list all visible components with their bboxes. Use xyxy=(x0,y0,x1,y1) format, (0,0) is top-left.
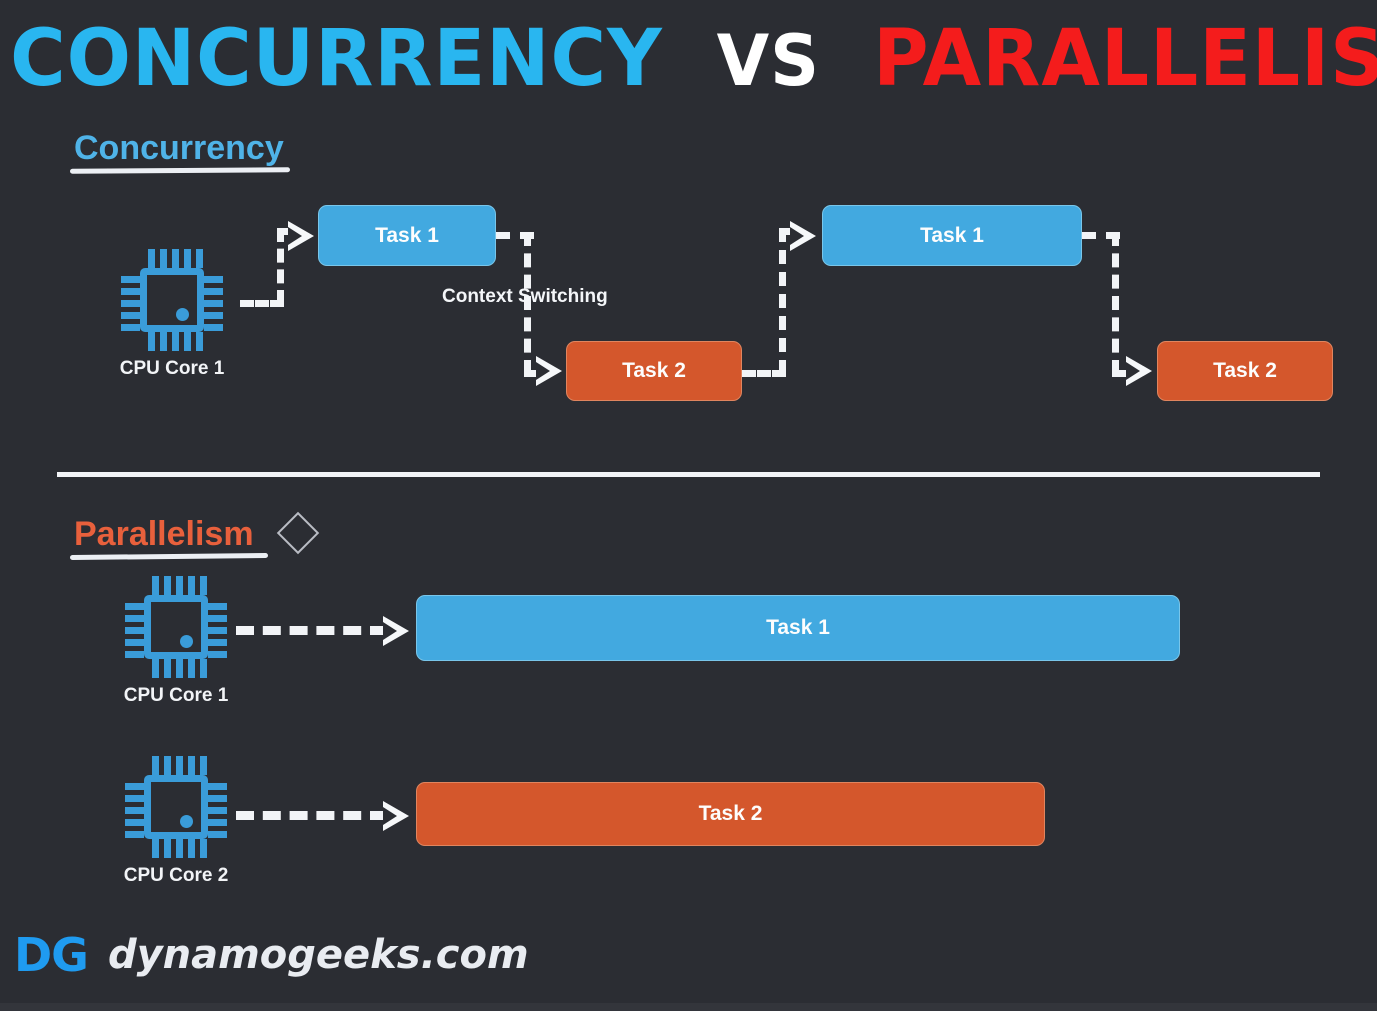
section-heading-parallelism: Parallelism xyxy=(74,514,254,554)
heading-underline-parallelism xyxy=(70,553,268,560)
arrow-right-icon xyxy=(288,221,314,251)
arrow-right-icon xyxy=(790,221,816,251)
cpu-chip-icon: CPU Core 1 xyxy=(118,246,226,354)
dash-segment xyxy=(236,811,388,820)
infographic-canvas: CONCURRENCY VS PARALLELISM Concurrency xyxy=(0,0,1377,1011)
dash-segment xyxy=(779,228,786,374)
arrow-right-icon xyxy=(383,801,409,831)
diamond-cursor-icon xyxy=(277,512,319,554)
cpu-dot xyxy=(176,308,189,321)
title-part-concurrency: CONCURRENCY xyxy=(10,14,663,104)
task-bar: Task 2 xyxy=(416,782,1045,846)
task-block: Task 2 xyxy=(1157,341,1333,401)
page-title: CONCURRENCY VS PARALLELISM xyxy=(0,14,1377,106)
context-switching-label: Context Switching xyxy=(442,286,608,308)
cpu-dot xyxy=(180,635,193,648)
title-part-vs: VS xyxy=(717,16,820,106)
cpu-body xyxy=(140,268,204,332)
cpu-core-label: CPU Core 2 xyxy=(100,865,252,887)
section-heading-concurrency: Concurrency xyxy=(74,128,284,168)
cpu-body xyxy=(144,775,208,839)
task-block: Task 1 xyxy=(822,205,1082,266)
arrow-right-icon xyxy=(1126,356,1152,386)
task-block: Task 2 xyxy=(566,341,742,401)
dash-segment xyxy=(277,228,284,304)
cpu-body xyxy=(144,595,208,659)
dash-segment xyxy=(1112,232,1119,374)
logo-dg: DG xyxy=(14,932,88,978)
arrow-right-icon xyxy=(383,616,409,646)
cpu-core-label: CPU Core 1 xyxy=(96,358,248,380)
arrow-right-icon xyxy=(536,356,562,386)
task-bar: Task 1 xyxy=(416,595,1180,661)
section-divider xyxy=(57,472,1320,477)
cpu-core-label: CPU Core 1 xyxy=(100,685,252,707)
cpu-chip-icon: CPU Core 1 xyxy=(122,573,230,681)
cpu-dot xyxy=(180,815,193,828)
title-part-parallelism: PARALLELISM xyxy=(873,14,1377,104)
heading-underline-concurrency xyxy=(70,167,290,174)
cpu-chip-icon: CPU Core 2 xyxy=(122,753,230,861)
bottom-strip xyxy=(0,1003,1377,1011)
task-block: Task 1 xyxy=(318,205,496,266)
footer: DG dynamogeeks.com xyxy=(14,932,529,978)
site-url: dynamogeeks.com xyxy=(108,932,529,978)
dash-segment xyxy=(236,626,388,635)
